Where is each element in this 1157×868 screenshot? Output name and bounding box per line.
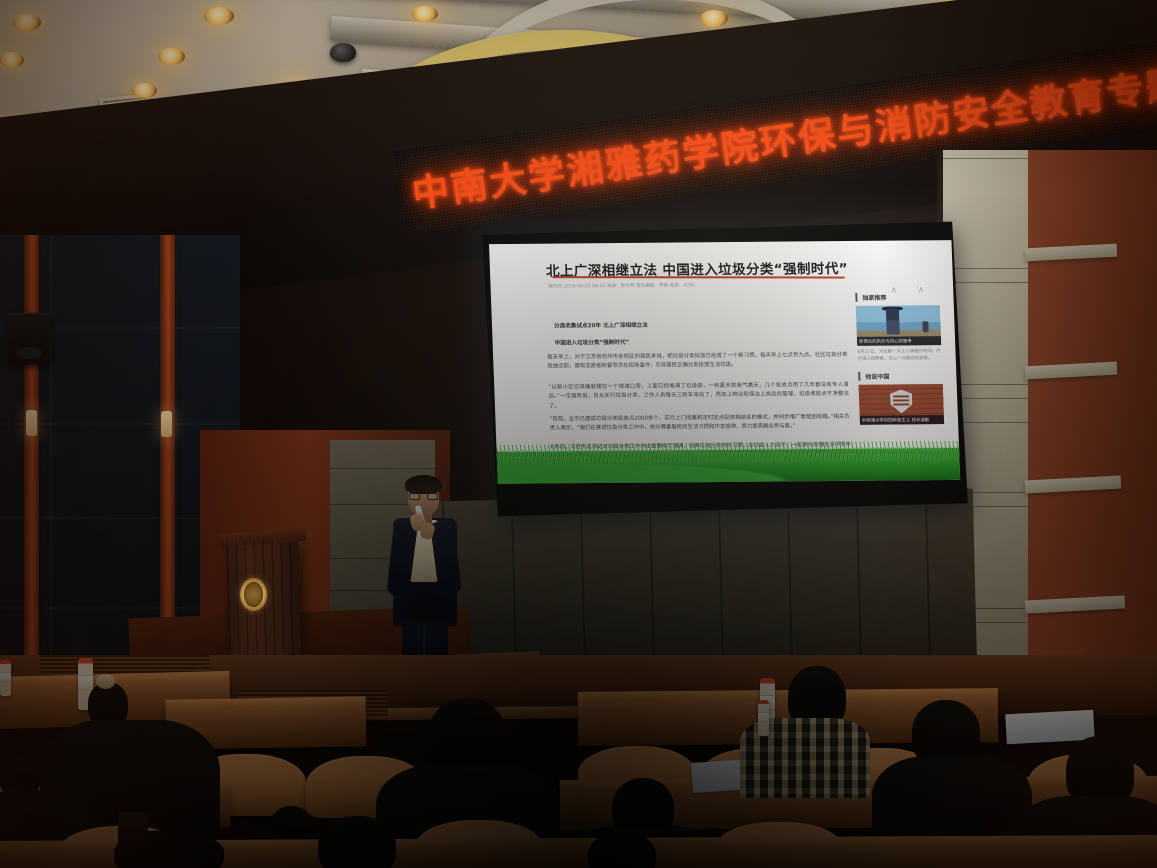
right-wall-slat (1025, 362, 1118, 380)
wall-sconce-light (26, 410, 37, 436)
wall-speaker (8, 313, 50, 365)
article-heading-1: 分类收集试点20年 北上广深相继立法 (554, 321, 648, 330)
paper-handout (1005, 710, 1094, 745)
slide-sidebar: ∧ ∧ 独家推荐 ‹ › 新西兰的风光与内心的思考 6月25日，对应第一大江小清… (855, 278, 945, 428)
sidebar-thumbnail-caption: 新西兰的风光与内心的思考 (857, 336, 941, 346)
eyeglasses-icon (409, 493, 438, 500)
auditorium-scene: 中南大学湘雅药学院环保与消防安全教育专题讲座 (0, 0, 1157, 868)
ceiling-downlight (132, 83, 157, 98)
wall-sconce-light (161, 411, 172, 437)
ceiling-downlight (412, 6, 438, 22)
projection-screen: 北上广深相继立法 中国进入垃圾分类“强制时代” 新华社 2019-06-25 0… (482, 222, 968, 517)
right-wall-slat (1025, 244, 1118, 262)
article-heading-2: 中国进入垃圾分类“强制时代” (555, 338, 630, 347)
security-camera-icon (330, 43, 356, 62)
crest-icon (890, 389, 913, 413)
sidebar-thumbnail-caption: 利物浦大学校园种族主义 校长道歉 (860, 415, 944, 425)
ceiling-downlight (204, 7, 234, 25)
university-emblem (240, 578, 267, 611)
ceiling-downlight (158, 48, 185, 65)
hair-bun (96, 674, 115, 689)
ceiling-downlight (0, 52, 24, 68)
audience-head (428, 698, 506, 774)
crest-detail (893, 395, 909, 397)
audience-head (588, 832, 656, 868)
sidebar-description: 6月25日，对应第一大江小清晨的时间，内行进入视野里，还上一片期待的景象。 (857, 348, 942, 363)
wall-wood-column (160, 235, 175, 680)
sidebar-thumbnail[interactable]: 新西兰的风光与内心的思考 (856, 305, 942, 346)
ceiling-downlight (700, 10, 728, 27)
sidebar-section-title: 独家推荐 (855, 292, 939, 302)
figure-shape (922, 321, 928, 332)
article-paragraph: “目前，全市已建成垃圾分类投放点2000余个，实行上门收集和定时定点投放相结合的… (549, 413, 850, 434)
water-bottle (758, 700, 769, 736)
sidebar-section-title: 他说中国 (858, 371, 942, 381)
right-wall-slat (1025, 595, 1126, 613)
slide-meta: 新华社 2019-06-25 09:32 来源：新华网 责任编辑：李楠 阅读：4… (549, 282, 696, 289)
ceiling-downlight (13, 14, 41, 31)
article-paragraph: 每天早上，对于江苏省杭州市余杭区的居民来说，把垃圾分类投放已经成了一个新习惯。每… (547, 351, 848, 372)
audience-area (0, 660, 1157, 868)
grass-graphic (497, 446, 961, 484)
audience-head (318, 816, 396, 868)
figure-shape (886, 309, 900, 335)
right-wall-slat (1025, 475, 1122, 493)
article-paragraph: “以前小区垃圾桶就摆在一个楼道口旁，上面已经堆满了垃圾袋，一到夏天就臭气熏天，几… (548, 381, 849, 412)
thermos (118, 812, 148, 860)
water-bottle (0, 660, 11, 696)
sidebar-thumbnail[interactable]: 利物浦大学校园种族主义 校长道歉 (859, 384, 945, 425)
wall-wood-column (24, 235, 39, 680)
sidebar-pager[interactable]: ‹ › (916, 284, 937, 290)
slide-content: 北上广深相继立法 中国进入垃圾分类“强制时代” 新华社 2019-06-25 0… (489, 240, 960, 484)
hair (405, 475, 442, 494)
